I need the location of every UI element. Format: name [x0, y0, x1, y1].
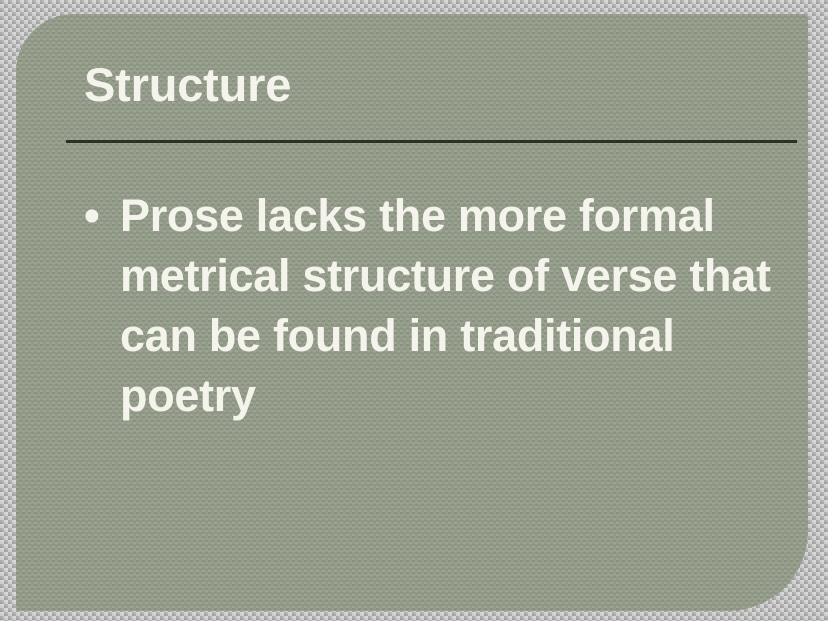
- list-item-label: Prose lacks the more formal metrical str…: [120, 186, 814, 426]
- title-placeholder: Structure: [84, 60, 784, 111]
- bullet-dot-icon: •: [84, 186, 120, 246]
- slide-content-panel: Structure • Prose lacks the more formal …: [16, 14, 808, 611]
- page-title: Structure: [84, 60, 784, 111]
- body-placeholder: • Prose lacks the more formal metrical s…: [84, 186, 814, 426]
- presentation-slide: Structure • Prose lacks the more formal …: [0, 0, 828, 621]
- list-item: • Prose lacks the more formal metrical s…: [84, 186, 814, 426]
- title-divider-rule: [66, 140, 797, 143]
